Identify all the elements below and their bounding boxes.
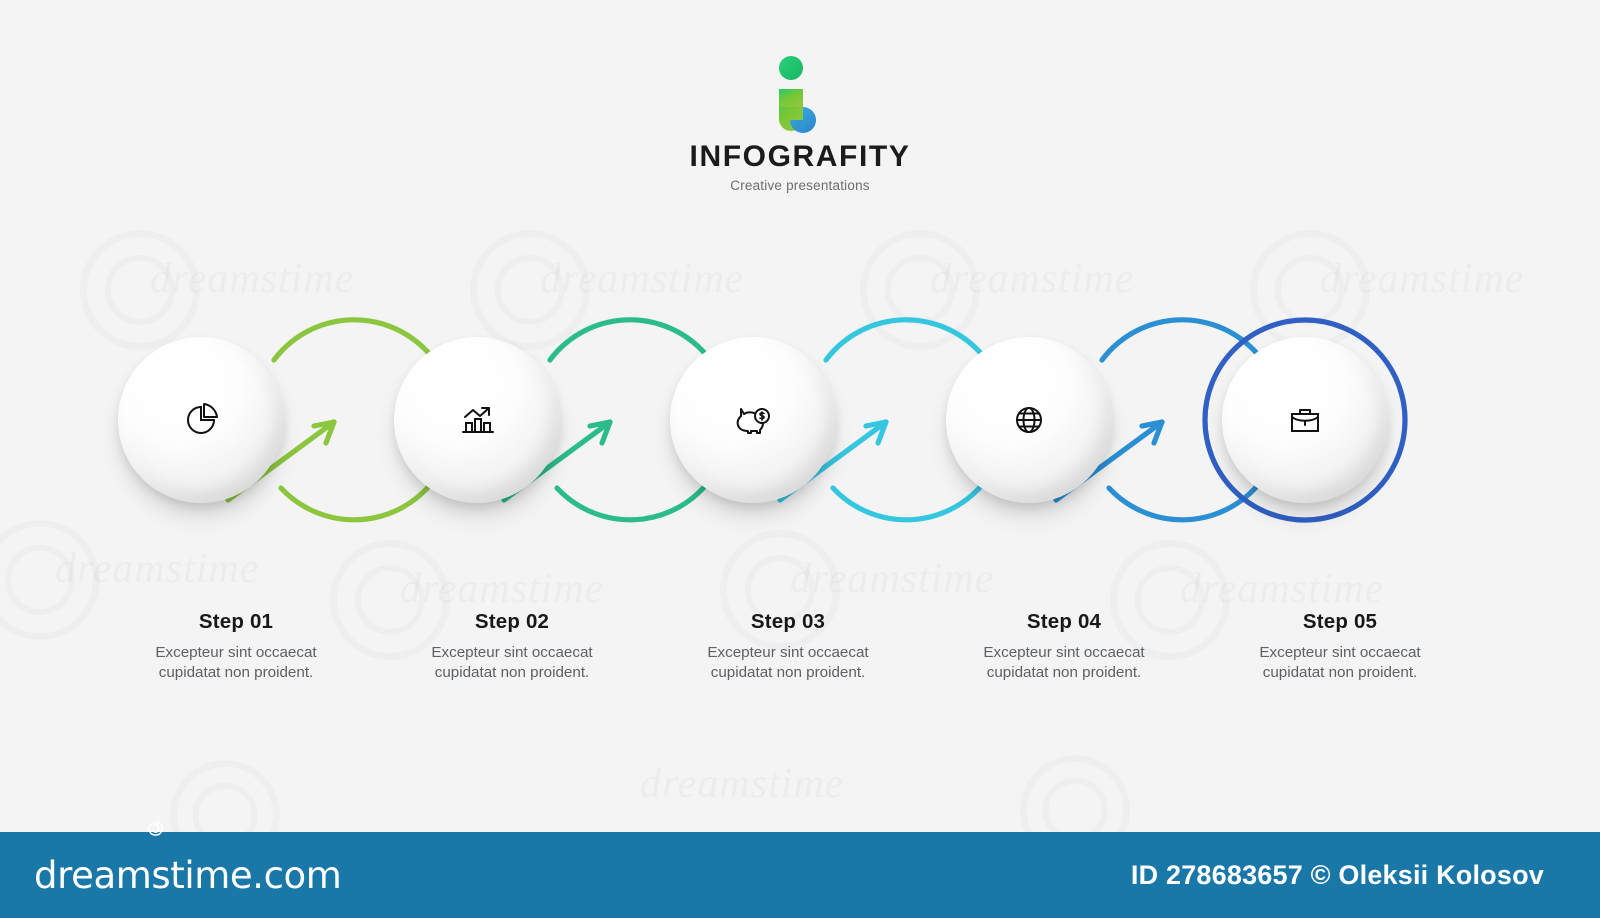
steps-container: Step 01 Excepteur sint occaecat cupidata…	[0, 0, 1600, 830]
bar-chart-growth-icon	[455, 398, 499, 442]
piggy-bank-icon	[731, 398, 775, 442]
step-description: Excepteur sint occaecat cupidatat non pr…	[1180, 643, 1500, 683]
step-caption-4: Step 04 Excepteur sint occaecat cupidata…	[904, 610, 1224, 683]
step-title: Step 02	[352, 610, 672, 634]
step-caption-3: Step 03 Excepteur sint occaecat cupidata…	[628, 610, 948, 683]
step-caption-5: Step 05 Excepteur sint occaecat cupidata…	[1180, 610, 1500, 683]
dreamstime-logo[interactable]: dreamstime.com	[34, 854, 341, 897]
dreamstime-footer-bar: dreamstime.com ID 278683657 © Oleksii Ko…	[0, 832, 1600, 918]
step-title: Step 05	[1180, 610, 1500, 634]
step-caption-1: Step 01 Excepteur sint occaecat cupidata…	[76, 610, 396, 683]
step-sphere-2[interactable]	[394, 337, 560, 503]
dreamstime-logo-text: dreamstime.com	[34, 854, 341, 897]
step-description: Excepteur sint occaecat cupidatat non pr…	[352, 643, 672, 683]
briefcase-icon	[1283, 398, 1327, 442]
step-description: Excepteur sint occaecat cupidatat non pr…	[904, 643, 1224, 683]
pie-chart-icon	[179, 398, 223, 442]
spiral-icon	[146, 819, 165, 838]
step-sphere-5[interactable]	[1222, 337, 1388, 503]
step-description: Excepteur sint occaecat cupidatat non pr…	[76, 643, 396, 683]
globe-icon	[1007, 398, 1051, 442]
step-description: Excepteur sint occaecat cupidatat non pr…	[628, 643, 948, 683]
step-title: Step 04	[904, 610, 1224, 634]
infographic-canvas: dreamstime dreamstime dreamstime dreamst…	[0, 0, 1600, 918]
step-sphere-1[interactable]	[118, 337, 284, 503]
step-title: Step 03	[628, 610, 948, 634]
step-sphere-3[interactable]	[670, 337, 836, 503]
step-title: Step 01	[76, 610, 396, 634]
step-caption-2: Step 02 Excepteur sint occaecat cupidata…	[352, 610, 672, 683]
step-sphere-4[interactable]	[946, 337, 1112, 503]
image-credit: ID 278683657 © Oleksii Kolosov	[1131, 860, 1566, 891]
